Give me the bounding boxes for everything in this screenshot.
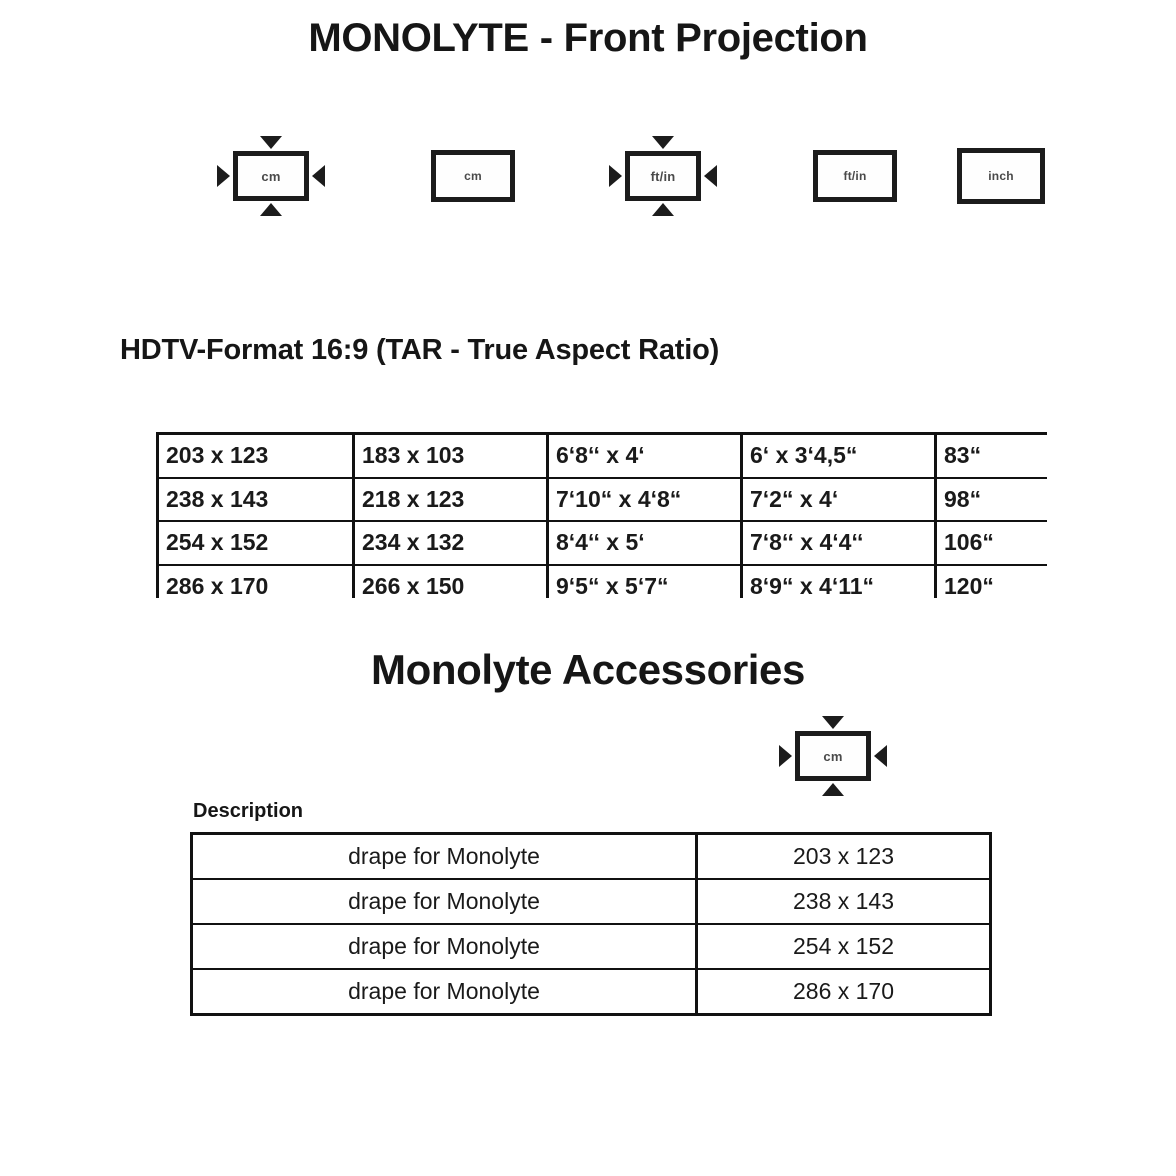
accessories-heading: Monolyte Accessories <box>0 646 1176 694</box>
cell-viewing-cm: 218 x 123 <box>354 478 548 522</box>
icon-legend-strip: cm cm ft/in <box>208 134 1068 218</box>
cell-viewing-cm: 266 x 150 <box>354 565 548 599</box>
diagonal-inch-icon: inch <box>946 134 1056 218</box>
icon-unit-label: inch <box>988 170 1013 182</box>
cell-diagonal-inch: 120“ <box>936 565 1048 599</box>
screen-frame: ft/in <box>813 150 897 202</box>
arrow-left-icon <box>704 165 717 187</box>
table-row: drape for Monolyte 203 x 123 <box>192 834 991 880</box>
table-row: drape for Monolyte 286 x 170 <box>192 969 991 1015</box>
icon-legend-item: inch <box>946 134 1056 218</box>
cell-description: drape for Monolyte <box>192 879 697 924</box>
cell-size-cm: 286 x 170 <box>697 969 991 1015</box>
cell-description: drape for Monolyte <box>192 834 697 880</box>
cell-size-cm: 254 x 152 <box>697 924 991 969</box>
screen-frame: cm <box>233 151 309 201</box>
icon-unit-label: cm <box>261 170 280 183</box>
icon-legend-item: ft/in <box>608 134 718 218</box>
screen-frame: inch <box>957 148 1045 204</box>
cell-viewing-cm: 183 x 103 <box>354 434 548 478</box>
icon-unit-label: ft/in <box>844 170 867 182</box>
cell-viewing-ftin: 8‘9“ x 4‘11“ <box>742 565 936 599</box>
accessories-heading-container: Monolyte Accessories <box>0 646 1176 694</box>
hdtv-format-heading: HDTV-Format 16:9 (TAR - True Aspect Rati… <box>120 334 719 367</box>
spec-table-container: 203 x 123 183 x 103 6‘8‘‘ x 4‘ 6‘ x 3‘4,… <box>156 432 1047 598</box>
spec-table: 203 x 123 183 x 103 6‘8‘‘ x 4‘ 6‘ x 3‘4,… <box>156 432 1047 598</box>
icon-unit-label: ft/in <box>651 170 676 183</box>
cell-diagonal-inch: 98“ <box>936 478 1048 522</box>
cell-diagonal-inch: 83“ <box>936 434 1048 478</box>
table-row: drape for Monolyte 238 x 143 <box>192 879 991 924</box>
cell-viewing-ftin: 7‘8‘‘ x 4‘4‘‘ <box>742 521 936 565</box>
arrow-left-icon <box>874 745 887 767</box>
screen-frame: cm <box>795 731 871 781</box>
cell-description: drape for Monolyte <box>192 924 697 969</box>
viewing-area-ftin-icon: ft/in <box>800 134 910 218</box>
arrow-right-icon <box>609 165 622 187</box>
cell-overall-ftin: 6‘8‘‘ x 4‘ <box>548 434 742 478</box>
viewing-area-cm-icon: cm <box>418 134 528 218</box>
accessories-unit-icon-container: cm <box>778 714 888 798</box>
cell-overall-ftin: 7‘10“ x 4‘8“ <box>548 478 742 522</box>
cell-overall-cm: 203 x 123 <box>158 434 354 478</box>
icon-unit-label: cm <box>464 170 482 182</box>
icon-legend-item: cm <box>418 134 528 218</box>
overall-dimension-cm-icon: cm <box>216 134 326 218</box>
cell-viewing-ftin: 6‘ x 3‘4,5“ <box>742 434 936 478</box>
arrow-down-icon <box>822 716 844 729</box>
overall-dimension-cm-icon: cm <box>778 714 888 798</box>
arrow-left-icon <box>312 165 325 187</box>
table-row: drape for Monolyte 254 x 152 <box>192 924 991 969</box>
arrow-right-icon <box>779 745 792 767</box>
arrow-up-icon <box>822 783 844 796</box>
arrow-right-icon <box>217 165 230 187</box>
table-row: 286 x 170 266 x 150 9‘5“ x 5‘7“ 8‘9“ x 4… <box>158 565 1048 599</box>
cell-size-cm: 203 x 123 <box>697 834 991 880</box>
table-row: 203 x 123 183 x 103 6‘8‘‘ x 4‘ 6‘ x 3‘4,… <box>158 434 1048 478</box>
cell-size-cm: 238 x 143 <box>697 879 991 924</box>
icon-legend-item: ft/in <box>800 134 910 218</box>
description-column-label: Description <box>193 800 303 823</box>
arrow-up-icon <box>260 203 282 216</box>
arrow-up-icon <box>652 203 674 216</box>
table-row: 238 x 143 218 x 123 7‘10“ x 4‘8“ 7‘2“ x … <box>158 478 1048 522</box>
cell-viewing-ftin: 7‘2“ x 4‘ <box>742 478 936 522</box>
screen-frame: cm <box>431 150 515 202</box>
cell-description: drape for Monolyte <box>192 969 697 1015</box>
cell-overall-cm: 254 x 152 <box>158 521 354 565</box>
table-row: 254 x 152 234 x 132 8‘4‘‘ x 5‘ 7‘8‘‘ x 4… <box>158 521 1048 565</box>
screen-frame: ft/in <box>625 151 701 201</box>
overall-dimension-ftin-icon: ft/in <box>608 134 718 218</box>
cell-viewing-cm: 234 x 132 <box>354 521 548 565</box>
cell-overall-ftin: 9‘5“ x 5‘7“ <box>548 565 742 599</box>
arrow-down-icon <box>652 136 674 149</box>
accessories-table-container: drape for Monolyte 203 x 123 drape for M… <box>190 832 989 1016</box>
cell-overall-cm: 286 x 170 <box>158 565 354 599</box>
icon-unit-label: cm <box>823 750 842 763</box>
cell-overall-ftin: 8‘4‘‘ x 5‘ <box>548 521 742 565</box>
arrow-down-icon <box>260 136 282 149</box>
icon-legend-item: cm <box>216 134 326 218</box>
page-title: MONOLYTE - Front Projection <box>0 16 1176 61</box>
cell-diagonal-inch: 106“ <box>936 521 1048 565</box>
accessories-table: drape for Monolyte 203 x 123 drape for M… <box>190 832 992 1016</box>
cell-overall-cm: 238 x 143 <box>158 478 354 522</box>
